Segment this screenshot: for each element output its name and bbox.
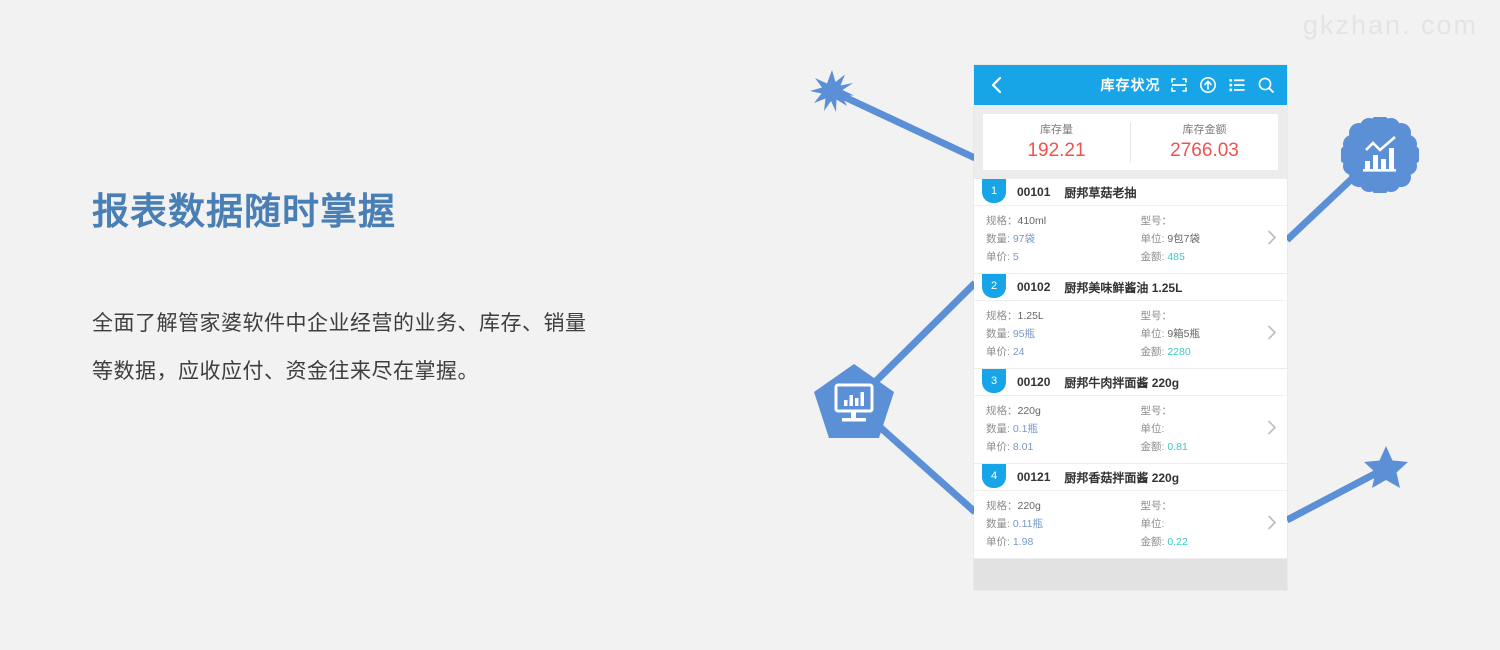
- sequence-badge: 1: [982, 179, 1006, 203]
- amount-label: 金额:: [1141, 536, 1165, 548]
- spec-label: 规格：: [986, 310, 1018, 322]
- item-name: 厨邦草菇老抽: [1064, 184, 1136, 201]
- item-name: 厨邦牛肉拌面酱 220g: [1064, 374, 1179, 391]
- list-footer-pad: [974, 559, 1287, 590]
- item-model-field: 型号：: [1141, 212, 1288, 230]
- item-qty-field: 数量: 95瓶: [986, 325, 1131, 343]
- summary-cell-stock-amount: 库存金额 2766.03: [1130, 122, 1278, 163]
- chevron-right-icon[interactable]: [1267, 324, 1277, 345]
- sequence-badge: 2: [982, 274, 1006, 298]
- qty-label: 数量:: [986, 328, 1010, 340]
- page-description: 全面了解管家婆软件中企业经营的业务、库存、销量等数据，应收应付、资金往来尽在掌握…: [92, 300, 592, 396]
- model-label: 型号：: [1141, 500, 1173, 512]
- item-unit-field: 单位:: [1141, 515, 1288, 533]
- scan-frame-icon[interactable]: [1170, 76, 1188, 94]
- summary-label: 库存量: [983, 122, 1130, 138]
- summary-card: 库存量 192.21 库存金额 2766.03: [983, 114, 1278, 170]
- left-copy-block: 报表数据随时掌握 全面了解管家婆软件中企业经营的业务、库存、销量等数据，应收应付…: [92, 190, 612, 396]
- model-label: 型号：: [1141, 310, 1173, 322]
- item-amount-field: 金额: 0.81: [1141, 438, 1288, 456]
- qty-value: 95瓶: [1013, 328, 1035, 340]
- chevron-right-icon[interactable]: [1267, 419, 1277, 440]
- item-col-right: 型号： 单位: 金额: 0.81: [1131, 402, 1288, 456]
- spec-value: 220g: [1018, 500, 1041, 512]
- nav-icon-group: [1170, 76, 1275, 94]
- bar-chart-trend-icon: [1341, 117, 1419, 193]
- model-label: 型号：: [1141, 215, 1173, 227]
- item-price-field: 单价: 24: [986, 343, 1131, 361]
- sequence-badge: 4: [982, 464, 1006, 488]
- amount-value: 0.22: [1167, 536, 1187, 548]
- item-col-right: 型号： 单位: 9箱5瓶 金额: 2280: [1131, 307, 1288, 361]
- amount-value: 485: [1167, 251, 1185, 263]
- price-value: 24: [1013, 346, 1025, 358]
- item-unit-field: 单位: 9箱5瓶: [1141, 325, 1288, 343]
- item-price-field: 单价: 5: [986, 248, 1131, 266]
- item-unit-field: 单位: 9包7袋: [1141, 230, 1288, 248]
- list-item-body: 规格：220g 数量: 0.11瓶 单价: 1.98 型号： 单位: 金额: 0…: [974, 491, 1287, 558]
- list-item[interactable]: 3 00120 厨邦牛肉拌面酱 220g 规格：220g 数量: 0.1瓶 单价…: [974, 369, 1287, 463]
- item-qty-field: 数量: 0.11瓶: [986, 515, 1131, 533]
- five-point-star-icon: [1362, 443, 1410, 491]
- phone-mockup: 库存状况: [974, 65, 1287, 590]
- price-label: 单价:: [986, 536, 1010, 548]
- item-col-left: 规格：1.25L 数量: 95瓶 单价: 24: [974, 307, 1131, 361]
- spec-label: 规格：: [986, 405, 1018, 417]
- item-code: 00102: [1017, 280, 1050, 294]
- sequence-badge: 3: [982, 369, 1006, 393]
- item-model-field: 型号：: [1141, 307, 1288, 325]
- item-price-field: 单价: 1.98: [986, 533, 1131, 551]
- star-badge: [1362, 443, 1410, 491]
- item-qty-field: 数量: 97袋: [986, 230, 1131, 248]
- item-amount-field: 金额: 2280: [1141, 343, 1288, 361]
- price-value: 5: [1013, 251, 1019, 263]
- price-label: 单价:: [986, 441, 1010, 453]
- model-label: 型号：: [1141, 405, 1173, 417]
- amount-label: 金额:: [1141, 346, 1165, 358]
- summary-cell-stock-qty: 库存量 192.21: [983, 122, 1130, 163]
- item-model-field: 型号：: [1141, 402, 1288, 420]
- amount-value: 0.81: [1167, 441, 1187, 453]
- item-spec-field: 规格：410ml: [986, 212, 1131, 230]
- pentagon-badge: [812, 362, 896, 442]
- list-item-body: 规格：410ml 数量: 97袋 单价: 5 型号： 单位: 9包7袋 金额: …: [974, 206, 1287, 273]
- price-value: 1.98: [1013, 536, 1033, 548]
- item-spec-field: 规格：1.25L: [986, 307, 1131, 325]
- amount-label: 金额:: [1141, 441, 1165, 453]
- chevron-right-icon[interactable]: [1267, 514, 1277, 535]
- qty-label: 数量:: [986, 233, 1010, 245]
- list-item-body: 规格：220g 数量: 0.1瓶 单价: 8.01 型号： 单位: 金额: 0.…: [974, 396, 1287, 463]
- chevron-right-icon[interactable]: [1267, 229, 1277, 250]
- item-spec-field: 规格：220g: [986, 497, 1131, 515]
- cloud-badge: [1341, 117, 1419, 193]
- unit-value: 9包7袋: [1167, 233, 1200, 245]
- spark-badge: [808, 68, 856, 116]
- circle-arrow-up-icon[interactable]: [1199, 76, 1217, 94]
- back-chevron-icon[interactable]: [986, 76, 1008, 94]
- item-amount-field: 金额: 485: [1141, 248, 1288, 266]
- item-model-field: 型号：: [1141, 497, 1288, 515]
- item-code: 00121: [1017, 470, 1050, 484]
- spec-value: 410ml: [1018, 215, 1047, 227]
- qty-label: 数量:: [986, 518, 1010, 530]
- connector-spark-to-phone: [836, 93, 975, 158]
- inventory-list: 1 00101 厨邦草菇老抽 规格：410ml 数量: 97袋 单价: 5 型号…: [974, 179, 1287, 558]
- unit-label: 单位:: [1141, 518, 1165, 530]
- item-col-left: 规格：410ml 数量: 97袋 单价: 5: [974, 212, 1131, 266]
- item-col-right: 型号： 单位: 9包7袋 金额: 485: [1131, 212, 1288, 266]
- list-item-header: 3 00120 厨邦牛肉拌面酱 220g: [974, 369, 1287, 396]
- item-price-field: 单价: 8.01: [986, 438, 1131, 456]
- price-value: 8.01: [1013, 441, 1033, 453]
- list-item[interactable]: 4 00121 厨邦香菇拌面酱 220g 规格：220g 数量: 0.11瓶 单…: [974, 464, 1287, 558]
- monitor-bar-chart-icon: [812, 362, 896, 442]
- item-col-left: 规格：220g 数量: 0.11瓶 单价: 1.98: [974, 497, 1131, 551]
- list-item-body: 规格：1.25L 数量: 95瓶 单价: 24 型号： 单位: 9箱5瓶 金额:…: [974, 301, 1287, 368]
- price-label: 单价:: [986, 346, 1010, 358]
- summary-value: 2766.03: [1131, 139, 1278, 163]
- item-name: 厨邦美味鲜酱油 1.25L: [1064, 279, 1182, 296]
- list-icon[interactable]: [1228, 76, 1246, 94]
- item-qty-field: 数量: 0.1瓶: [986, 420, 1131, 438]
- summary-label: 库存金额: [1131, 122, 1278, 138]
- list-item-header: 4 00121 厨邦香菇拌面酱 220g: [974, 464, 1287, 491]
- item-amount-field: 金额: 0.22: [1141, 533, 1288, 551]
- list-item[interactable]: 1 00101 厨邦草菇老抽 规格：410ml 数量: 97袋 单价: 5 型号…: [974, 179, 1287, 273]
- price-label: 单价:: [986, 251, 1010, 263]
- amount-value: 2280: [1167, 346, 1190, 358]
- item-spec-field: 规格：220g: [986, 402, 1131, 420]
- site-watermark: gkzhan. com: [1303, 10, 1478, 41]
- page-title: 报表数据随时掌握: [92, 190, 612, 234]
- spec-value: 1.25L: [1018, 310, 1044, 322]
- qty-value: 0.11瓶: [1013, 518, 1043, 530]
- item-col-left: 规格：220g 数量: 0.1瓶 单价: 8.01: [974, 402, 1131, 456]
- item-code: 00120: [1017, 375, 1050, 389]
- summary-value: 192.21: [983, 139, 1130, 163]
- item-code: 00101: [1017, 185, 1050, 199]
- unit-label: 单位:: [1141, 423, 1165, 435]
- item-name: 厨邦香菇拌面酱 220g: [1064, 469, 1179, 486]
- item-col-right: 型号： 单位: 金额: 0.22: [1131, 497, 1288, 551]
- starburst-icon: [808, 68, 856, 116]
- unit-label: 单位:: [1141, 328, 1165, 340]
- list-item[interactable]: 2 00102 厨邦美味鲜酱油 1.25L 规格：1.25L 数量: 95瓶 单…: [974, 274, 1287, 368]
- list-item-header: 1 00101 厨邦草菇老抽: [974, 179, 1287, 206]
- list-item-header: 2 00102 厨邦美味鲜酱油 1.25L: [974, 274, 1287, 301]
- spec-value: 220g: [1018, 405, 1041, 417]
- unit-label: 单位:: [1141, 233, 1165, 245]
- qty-value: 97袋: [1013, 233, 1035, 245]
- summary-card-wrap: 库存量 192.21 库存金额 2766.03: [974, 105, 1287, 170]
- search-icon[interactable]: [1257, 76, 1275, 94]
- qty-value: 0.1瓶: [1013, 423, 1038, 435]
- amount-label: 金额:: [1141, 251, 1165, 263]
- page-root: gkzhan. com 报表数据随时掌握 全面了解管家婆软件中企业经营的业务、库…: [0, 0, 1500, 650]
- app-nav-bar: 库存状况: [974, 65, 1287, 105]
- item-unit-field: 单位:: [1141, 420, 1288, 438]
- unit-value: 9箱5瓶: [1167, 328, 1200, 340]
- spec-label: 规格：: [986, 500, 1018, 512]
- qty-label: 数量:: [986, 423, 1010, 435]
- spec-label: 规格：: [986, 215, 1018, 227]
